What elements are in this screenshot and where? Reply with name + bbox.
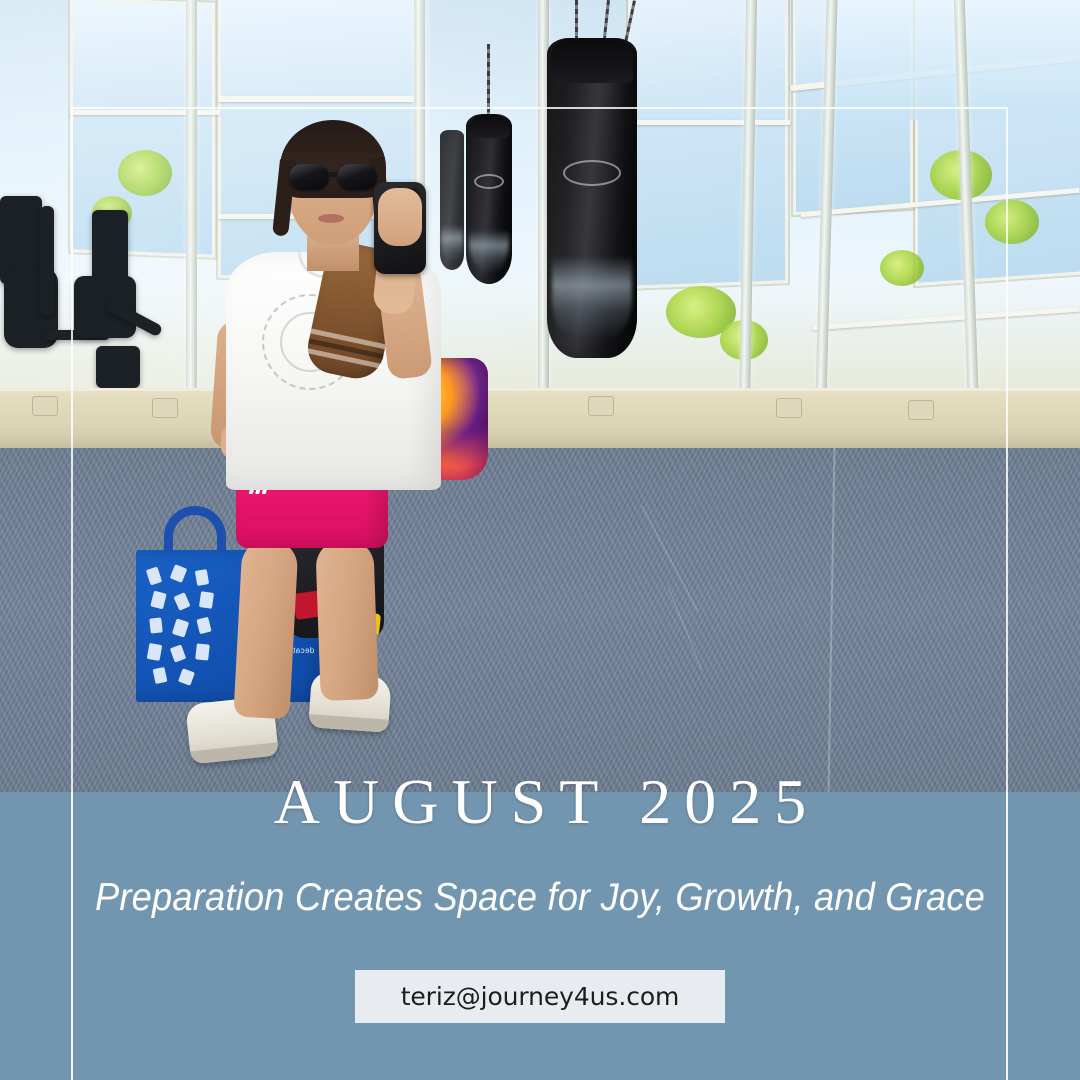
email-address: teriz@journey4us.com <box>401 982 680 1011</box>
hand-right <box>378 188 422 246</box>
frame-top-line <box>71 107 1008 109</box>
frame-left-line <box>71 107 73 1080</box>
email-box[interactable]: teriz@journey4us.com <box>355 970 725 1023</box>
frame-right-line <box>1006 107 1008 1080</box>
shoe-sole <box>308 714 389 733</box>
leg-right <box>315 539 379 701</box>
sunglass-lens-right <box>337 164 377 190</box>
page-title: AUGUST 2025 <box>0 768 1080 835</box>
subtitle-tagline: Preparation Creates Space for Joy, Growt… <box>38 876 1042 920</box>
shoe-sole <box>190 742 279 764</box>
sunglass-lens-left <box>289 164 329 190</box>
leg-left <box>233 539 298 720</box>
poster: DECA SPORT FOR ALL decathlon <box>0 0 1080 1080</box>
sunglasses <box>289 164 377 190</box>
tote-handle <box>164 506 226 552</box>
tote-pictograms <box>144 564 230 688</box>
lips <box>318 214 344 223</box>
